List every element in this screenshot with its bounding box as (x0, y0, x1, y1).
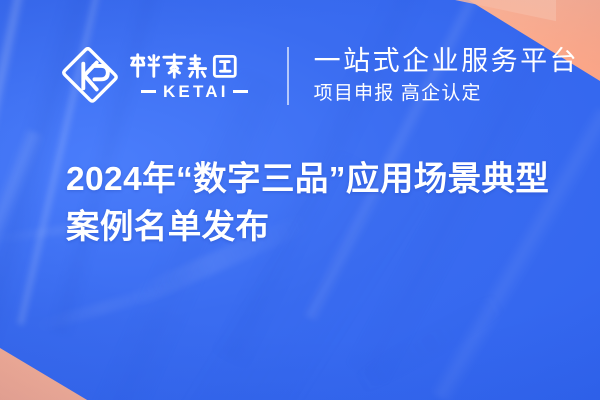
wordmark-bar-left (141, 90, 156, 94)
header-divider (287, 47, 289, 105)
promo-banner: KETAI 一站式企业服务平台 项目申报 高企认定 2024年“数字三品”应用场… (0, 0, 600, 400)
brand-name-en-row: KETAI (129, 83, 260, 100)
banner-title: 2024年“数字三品”应用场景典型案例名单发布 (66, 156, 571, 251)
brand-name-cn-glyphs (129, 52, 260, 79)
wordmark-bar-right (233, 90, 248, 94)
tagline-main: 一站式企业服务平台 (314, 47, 580, 76)
tagline-sub: 项目申报 高企认定 (314, 84, 580, 105)
brand-wordmark: KETAI (129, 52, 260, 100)
brand-name-en: KETAI (156, 83, 233, 100)
ketai-diamond-kp-monogram-icon (62, 47, 118, 105)
tagline-block: 一站式企业服务平台 项目申报 高企认定 (314, 47, 580, 104)
brand-logo[interactable]: KETAI (62, 47, 260, 105)
banner-header: KETAI 一站式企业服务平台 项目申报 高企认定 (0, 38, 600, 114)
